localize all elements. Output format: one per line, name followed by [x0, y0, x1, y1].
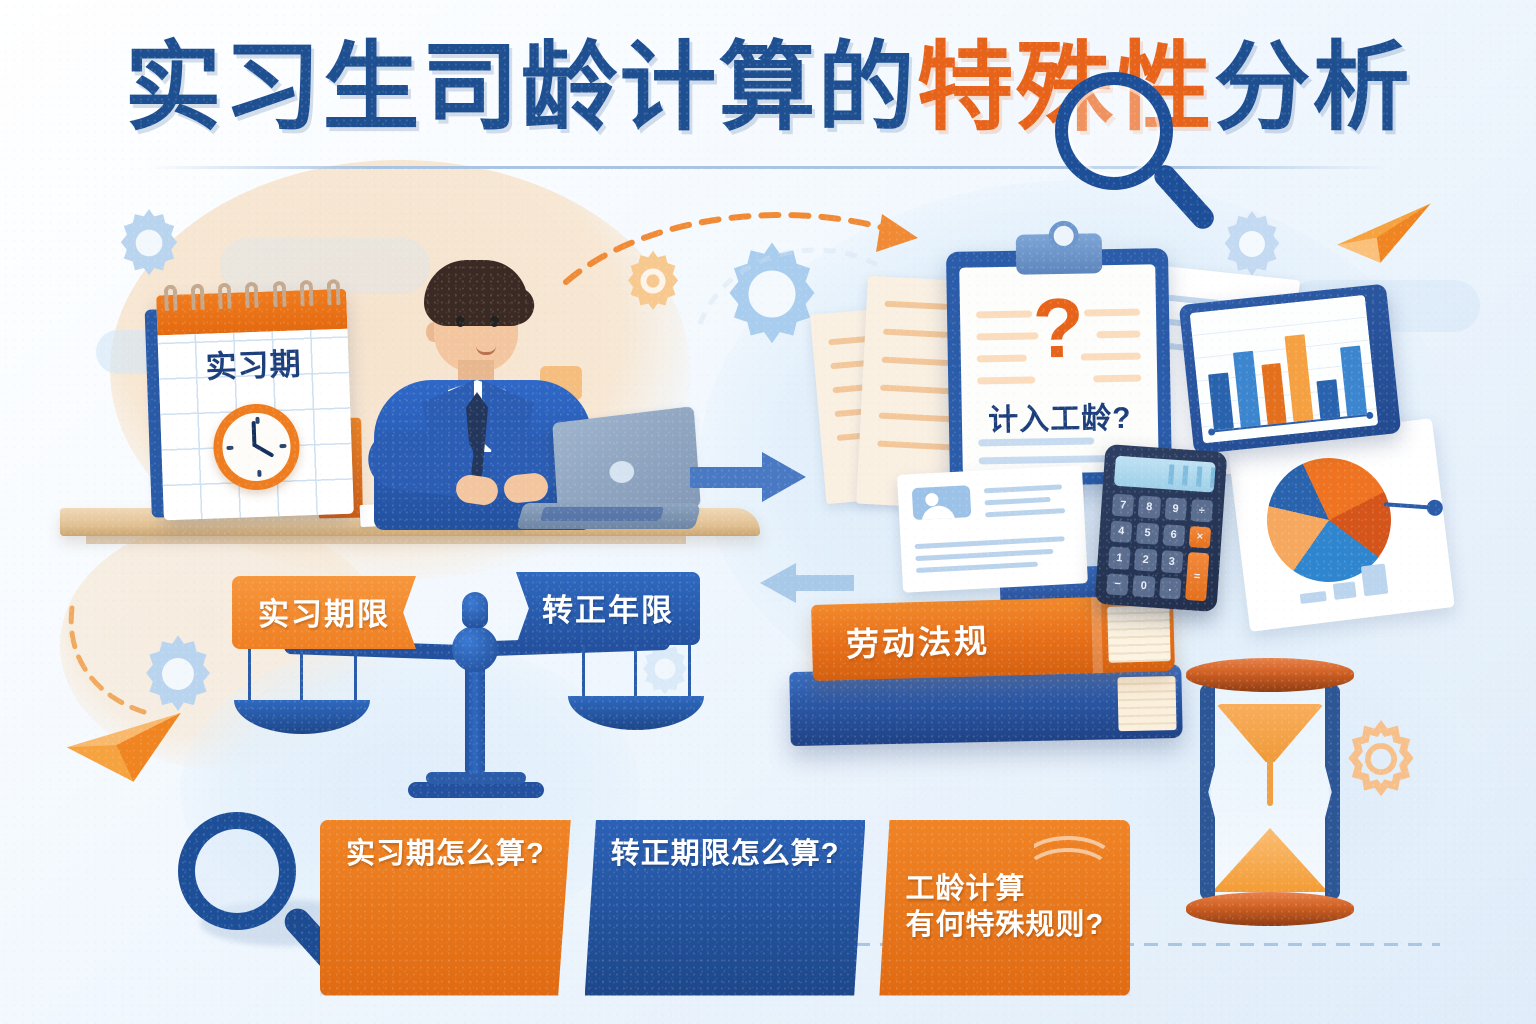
arrow-head — [762, 452, 806, 502]
calc-key[interactable]: . — [1159, 577, 1182, 600]
axis-endpoint — [1366, 412, 1374, 420]
title-divider — [150, 166, 1386, 169]
calc-key[interactable]: 1 — [1108, 546, 1131, 569]
tablet-bar-chart — [1179, 284, 1402, 455]
title-part-2: 分析 — [1214, 33, 1412, 142]
poster-title-wrapper: 实习生司龄计算的特殊性分析 — [0, 36, 1536, 141]
bar-chart-bars — [1204, 319, 1367, 431]
calendar-body: 实习期 — [156, 289, 354, 520]
hourglass-sand-stream — [1267, 758, 1273, 806]
bar — [1208, 373, 1234, 430]
laptop-logo — [609, 460, 635, 484]
mini-bar — [1333, 581, 1357, 600]
scale-dish — [568, 696, 704, 730]
scale-pan-right — [568, 676, 704, 718]
calc-key[interactable]: 7 — [1112, 494, 1135, 517]
swoosh-icon — [1034, 834, 1120, 884]
bar — [1261, 363, 1287, 424]
gear-icon-1 — [112, 206, 186, 280]
calculator-keypad: 7 8 9 ÷ 4 5 6 × 1 2 3 = − 0 . — [1106, 494, 1213, 602]
arrow-right-icon — [690, 452, 810, 502]
employee-id-card — [897, 465, 1088, 593]
bar — [1233, 351, 1261, 428]
laptop-illustration — [520, 415, 700, 535]
dashed-curve-icon-2 — [58, 600, 188, 730]
scale-banner-internship: 实习期限 — [232, 576, 416, 649]
axis-endpoint — [1208, 428, 1216, 436]
infographic-poster: 实习生司龄计算的特殊性分析 实习期 — [0, 0, 1536, 1024]
avatar — [912, 485, 972, 520]
mini-bar — [1300, 591, 1327, 604]
book-pages — [1117, 676, 1176, 731]
eyebrow-left — [452, 304, 470, 308]
calc-key[interactable]: 2 — [1134, 548, 1157, 571]
search-icon-bottom — [178, 812, 310, 944]
bar — [1317, 379, 1341, 419]
book-pages — [1107, 605, 1171, 663]
clipboard-clip — [1016, 233, 1103, 274]
calc-key[interactable]: 9 — [1164, 497, 1187, 520]
arrow-shaft — [794, 575, 854, 591]
pie-chart — [1238, 429, 1454, 627]
magnifier-lens — [178, 812, 296, 930]
laptop-screen — [552, 406, 701, 511]
mini-bar — [1361, 564, 1388, 597]
calendar-label: 实习期 — [158, 337, 349, 389]
scale-pan-left — [234, 680, 370, 722]
gear-icon-4 — [1216, 208, 1288, 280]
laptop-keyboard — [540, 507, 664, 521]
magnifier-lens — [1055, 72, 1173, 190]
paper-plane-icon-1 — [1330, 196, 1438, 272]
clipboard-paper: ? 计入工龄? — [959, 264, 1159, 474]
bar — [1340, 345, 1367, 416]
arrow-shaft — [690, 467, 768, 488]
calc-key[interactable]: 6 — [1162, 524, 1185, 547]
calc-key-operator[interactable]: × — [1188, 526, 1211, 549]
calculator-display — [1114, 456, 1216, 493]
question-mark-icon: ? — [960, 284, 1157, 371]
pie-pointer — [1384, 502, 1436, 510]
bottom-tag-list: 实习期怎么算? 转正期限怎么算? 工龄计算 有何特殊规则? — [320, 820, 1130, 996]
eye-left — [456, 316, 465, 327]
scale-base — [408, 782, 544, 798]
calc-key[interactable]: ÷ — [1190, 499, 1213, 522]
page-title: 实习生司龄计算的特殊性分析 — [125, 36, 1412, 141]
book-orange: 劳动法规 — [811, 595, 1175, 681]
arrow-head — [760, 563, 796, 603]
calc-key[interactable]: 5 — [1136, 522, 1159, 545]
arrow-left-icon — [760, 563, 854, 603]
tag-regularization-question[interactable]: 转正期限怎么算? — [585, 820, 866, 996]
scale-dish — [234, 700, 370, 734]
bar — [1285, 334, 1314, 422]
scale-finial — [462, 592, 488, 628]
eye-right — [490, 316, 499, 327]
calendar-illustration: 实习期 — [156, 289, 354, 520]
calc-key[interactable]: − — [1106, 573, 1129, 596]
hourglass-illustration — [1186, 658, 1354, 926]
calculator-illustration: 7 8 9 ÷ 4 5 6 × 1 2 3 = − 0 . — [1095, 444, 1228, 612]
calc-key[interactable]: 8 — [1138, 495, 1161, 518]
search-icon — [1055, 72, 1173, 190]
title-part-1: 实习生司龄计算的 — [125, 33, 917, 142]
hair — [424, 260, 528, 326]
clipboard-caption: 计入工龄? — [961, 392, 1158, 439]
calc-key-equals[interactable]: = — [1185, 552, 1210, 601]
calc-key[interactable]: 3 — [1160, 550, 1183, 573]
eyebrow-right — [486, 304, 504, 308]
book-spine-title: 劳动法规 — [845, 614, 990, 666]
scale-banner-regularization: 转正年限 — [516, 572, 700, 645]
calc-key[interactable]: 4 — [1110, 520, 1133, 543]
tag-internship-question[interactable]: 实习期怎么算? — [320, 820, 571, 996]
tag-seniority-question[interactable]: 工龄计算 有何特殊规则? — [879, 820, 1130, 996]
hourglass-cap-top — [1186, 658, 1354, 692]
scale-knob — [452, 626, 498, 672]
hourglass-cap-bottom — [1186, 892, 1354, 926]
bar-chart — [1190, 295, 1379, 444]
calc-key[interactable]: 0 — [1132, 575, 1155, 598]
book-stripe — [1091, 597, 1103, 673]
